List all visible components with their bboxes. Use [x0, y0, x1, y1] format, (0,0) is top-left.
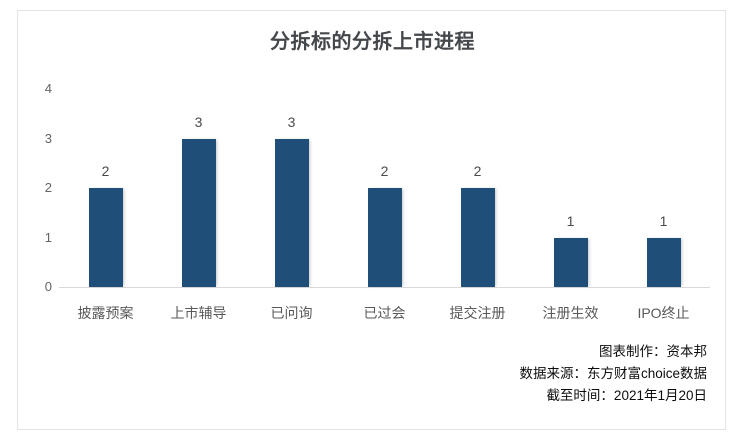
- bar[interactable]: [647, 238, 681, 288]
- bar-category-slot: 2提交注册: [431, 11, 524, 431]
- bar-value-label: 1: [660, 214, 668, 228]
- x-axis-category-label: IPO终止: [637, 303, 689, 323]
- bar-value-label: 2: [102, 164, 110, 178]
- y-axis-tick-label: 3: [30, 132, 52, 145]
- bar-value-label: 3: [195, 115, 203, 129]
- y-axis-tick-label: 1: [30, 231, 52, 244]
- y-axis-tick-label: 2: [30, 181, 52, 194]
- bar[interactable]: [89, 188, 123, 287]
- x-axis-category-label: 注册生效: [543, 303, 599, 323]
- bar[interactable]: [368, 188, 402, 287]
- footer-notes: 图表制作：资本邦数据来源：东方财富choice数据截至时间：2021年1月20日: [519, 341, 707, 407]
- x-axis-category-label: 提交注册: [450, 303, 506, 323]
- bar-value-label: 1: [567, 214, 575, 228]
- bar[interactable]: [554, 238, 588, 288]
- x-axis-category-label: 上市辅导: [171, 303, 227, 323]
- y-axis-tick-label: 4: [30, 82, 52, 95]
- x-axis-category-label: 已问询: [271, 303, 313, 323]
- bar[interactable]: [461, 188, 495, 287]
- x-axis-category-label: 披露预案: [78, 303, 134, 323]
- bar-category-slot: 3已问询: [245, 11, 338, 431]
- x-axis-category-label: 已过会: [364, 303, 406, 323]
- bar-category-slot: 2披露预案: [59, 11, 152, 431]
- chart-card: 分拆标的分拆上市进程 01234 2披露预案3上市辅导3已问询2已过会2提交注册…: [17, 10, 726, 430]
- bar-value-label: 2: [474, 164, 482, 178]
- bar-category-slot: 2已过会: [338, 11, 431, 431]
- footer-note-line: 截至时间：2021年1月20日: [519, 385, 707, 407]
- y-axis-tick-label: 0: [30, 280, 52, 293]
- bar[interactable]: [182, 139, 216, 288]
- bar-value-label: 3: [288, 115, 296, 129]
- footer-note-line: 图表制作：资本邦: [519, 341, 707, 363]
- footer-note-line: 数据来源：东方财富choice数据: [519, 363, 707, 385]
- bar[interactable]: [275, 139, 309, 288]
- bar-value-label: 2: [381, 164, 389, 178]
- bar-category-slot: 3上市辅导: [152, 11, 245, 431]
